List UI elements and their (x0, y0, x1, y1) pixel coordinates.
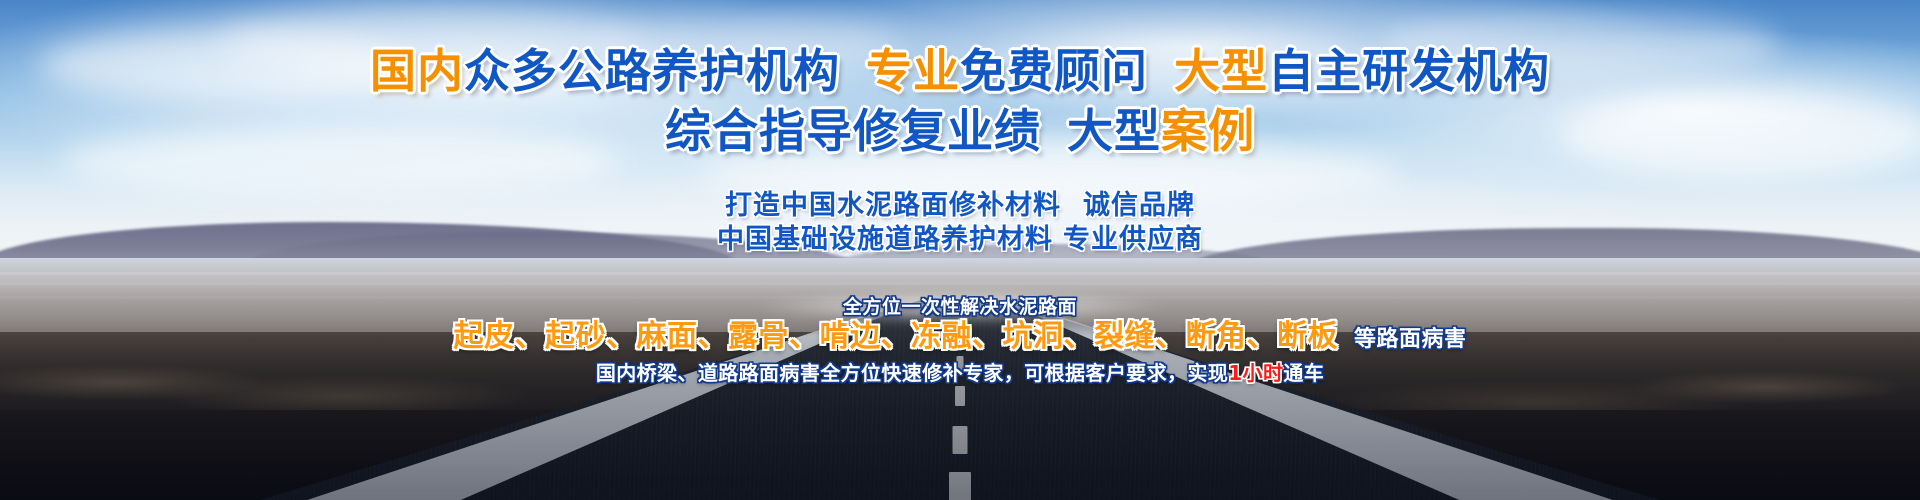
bottom-intro-text: 全方位一次性解决水泥路面 (843, 296, 1077, 318)
defect-separator: 、 (880, 319, 911, 354)
bottom-intro-line: 全方位一次性解决水泥路面 (0, 295, 1920, 319)
headline-segment-orange: 大型 (1174, 44, 1268, 98)
defect-separator: 、 (514, 319, 545, 354)
subheadline-line-1: 打造中国水泥路面修补材料诚信品牌 (0, 190, 1920, 222)
defect-item: 裂缝 (1094, 319, 1155, 354)
headline-line-2: 综合指导修复业绩大型案例 (0, 104, 1920, 158)
defect-item: 起砂 (545, 319, 606, 354)
headline-segment-orange: 案例 (1161, 104, 1255, 158)
defect-separator: 、 (1155, 319, 1186, 354)
defect-item: 断角 (1185, 319, 1246, 354)
defect-item: 坑洞 (1002, 319, 1063, 354)
defect-list-suffix: 等路面病害 (1354, 327, 1467, 352)
subheadline-text: 专业供应商 (1063, 224, 1203, 255)
headline-segment-blue: 综合指导修复业绩 (665, 104, 1041, 158)
defect-item: 啃边 (819, 319, 880, 354)
headline-segment-blue: 众多公路养护机构 (464, 44, 840, 98)
defect-item: 冻融 (911, 319, 972, 354)
promo-banner: 国内众多公路养护机构专业免费顾问大型自主研发机构 综合指导修复业绩大型案例 打造… (0, 0, 1920, 500)
tagline-line: 国内桥梁、道路路面病害全方位快速修补专家，可根据客户要求，实现1小时通车 (0, 360, 1920, 386)
tagline-text: 通车 (1283, 361, 1324, 385)
subheadline-text: 打造中国水泥路面修补材料 (725, 190, 1061, 221)
defect-item: 露骨 (728, 319, 789, 354)
defect-separator: 、 (972, 319, 1003, 354)
headline-segment-orange: 国内 (370, 44, 464, 98)
headline-segment-blue: 自主研发机构 (1268, 44, 1550, 98)
headline-segment-orange: 专业 (866, 44, 960, 98)
defect-separator: 、 (1246, 319, 1277, 354)
defect-item: 麻面 (636, 319, 697, 354)
headline-line-1: 国内众多公路养护机构专业免费顾问大型自主研发机构 (0, 44, 1920, 98)
subheadline-text: 诚信品牌 (1083, 190, 1195, 221)
defect-separator: 、 (606, 319, 637, 354)
headline-segment-blue: 免费顾问 (960, 44, 1148, 98)
tagline-highlight: 1小时 (1228, 361, 1283, 385)
defect-separator: 、 (697, 319, 728, 354)
defect-separator: 、 (1063, 319, 1094, 354)
headline-segment-blue: 大型 (1067, 104, 1161, 158)
defect-separator: 、 (789, 319, 820, 354)
subheadline-text: 中国基础设施道路养护材料 (717, 224, 1053, 255)
subheadline-line-2: 中国基础设施道路养护材料专业供应商 (0, 224, 1920, 256)
defect-list-line: 起皮、起砂、麻面、露骨、啃边、冻融、坑洞、裂缝、断角、断板等路面病害 (0, 318, 1920, 359)
text-overlay: 国内众多公路养护机构专业免费顾问大型自主研发机构 综合指导修复业绩大型案例 打造… (0, 0, 1920, 500)
defect-item: 起皮 (453, 319, 514, 354)
defect-item: 断板 (1277, 319, 1338, 354)
tagline-text: 国内桥梁、道路路面病害全方位快速修补专家，可根据客户要求，实现 (596, 361, 1228, 385)
